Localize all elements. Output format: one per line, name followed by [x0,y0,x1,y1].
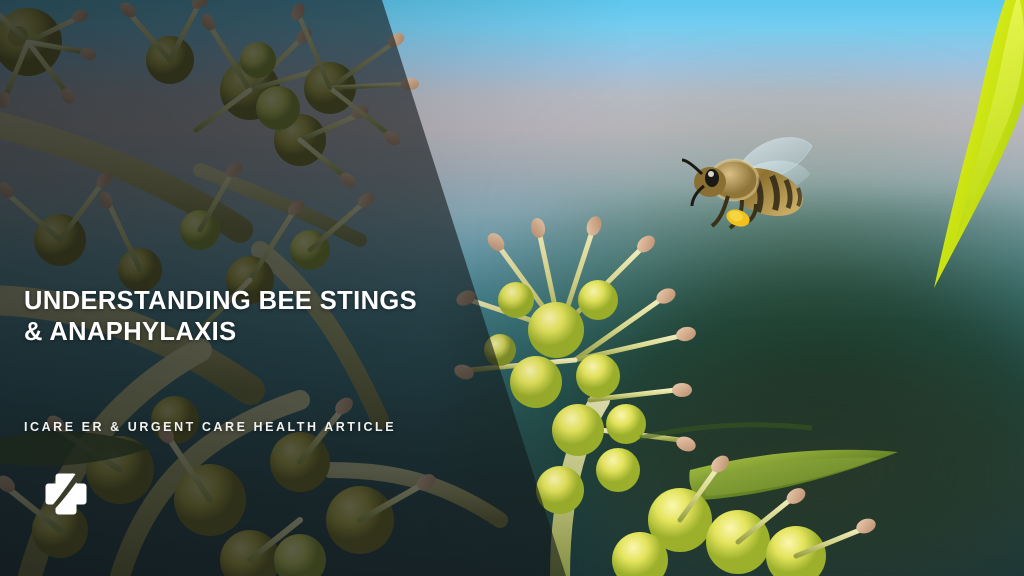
article-hero-banner: UNDERSTANDING BEE STINGS & ANAPHYLAXIS I… [0,0,1024,576]
icare-medical-cross-logo[interactable] [44,472,88,516]
banner-subtitle: ICARE ER & URGENT CARE HEALTH ARTICLE [24,420,396,434]
hero-text-block: UNDERSTANDING BEE STINGS & ANAPHYLAXIS I… [0,0,520,576]
page-title: UNDERSTANDING BEE STINGS & ANAPHYLAXIS [24,286,484,348]
